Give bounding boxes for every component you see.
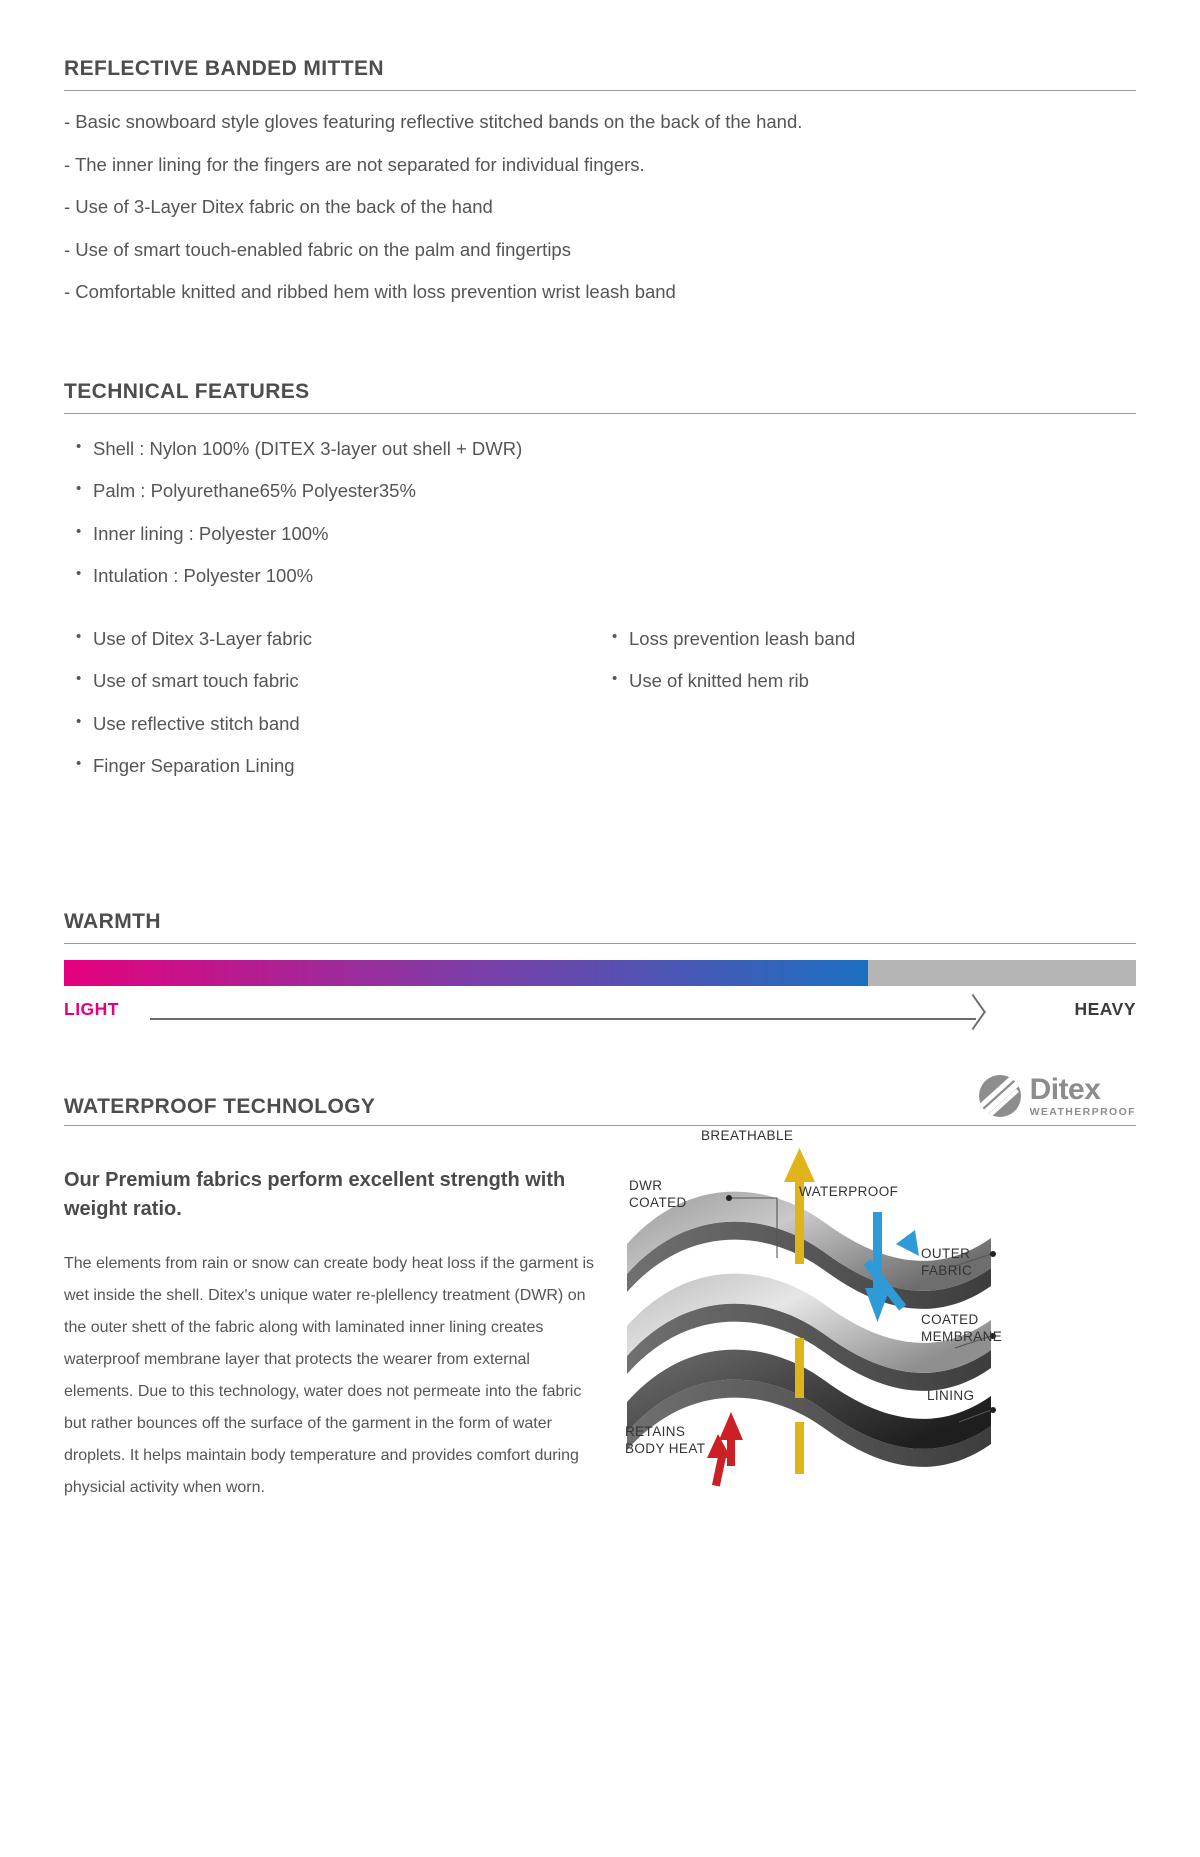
diagram-label-retains-body-heat: RETAINS BODY HEAT (625, 1424, 705, 1458)
list-item: - The inner lining for the fingers are n… (64, 156, 1136, 175)
diagram-label-breathable: BREATHABLE (701, 1128, 793, 1145)
list-item: - Basic snowboard style gloves featuring… (64, 113, 1136, 132)
warmth-light-label: LIGHT (64, 999, 119, 1020)
ditex-wordmark: Ditex WEATHERPROOF (1030, 1075, 1136, 1118)
list-item: Shell : Nylon 100% (DITEX 3-layer out sh… (76, 440, 1136, 459)
waterproof-heading-row: WATERPROOF TECHNOLOGY Ditex WEATHERPROOF (64, 1075, 1136, 1127)
features-columns: Use of Ditex 3-Layer fabric Use of smart… (64, 630, 1136, 800)
spec-sheet-page: REFLECTIVE BANDED MITTEN - Basic snowboa… (0, 57, 1200, 1857)
list-item: Inner lining : Polyester 100% (76, 525, 1136, 544)
warmth-heavy-label: HEAVY (1075, 999, 1137, 1020)
list-item: Palm : Polyurethane65% Polyester35% (76, 482, 1136, 501)
waterproof-body: Our Premium fabrics perform excellent st… (64, 1166, 1136, 1566)
diagram-label-waterproof: WATERPROOF (799, 1184, 898, 1201)
ditex-mark-icon (979, 1075, 1021, 1117)
list-item: Use of smart touch fabric (76, 672, 600, 691)
list-item: - Comfortable knitted and ribbed hem wit… (64, 283, 1136, 302)
waterproof-paragraph: The elements from rain or snow can creat… (64, 1248, 597, 1504)
ditex-tagline: WEATHERPROOF (1030, 1107, 1136, 1118)
waterproof-heading: WATERPROOF TECHNOLOGY (64, 1095, 375, 1119)
diagram-label-coated-membrane: COATED MEMBRANE (921, 1312, 1002, 1346)
warmth-scale-fill (64, 960, 868, 986)
warmth-heading: WARMTH (64, 910, 1136, 944)
list-item: Use reflective stitch band (76, 715, 600, 734)
warmth-scale-track (64, 960, 1136, 986)
product-description-list: - Basic snowboard style gloves featuring… (64, 113, 1136, 302)
diagram-label-dwr-coated: DWR COATED (629, 1178, 687, 1212)
list-item: - Use of smart touch-enabled fabric on t… (64, 241, 1136, 260)
ditex-logo: Ditex WEATHERPROOF (979, 1075, 1136, 1120)
waterproof-lead-text: Our Premium fabrics perform excellent st… (64, 1166, 597, 1224)
features-column-left: Use of Ditex 3-Layer fabric Use of smart… (64, 630, 600, 800)
list-item: Use of Ditex 3-Layer fabric (76, 630, 600, 649)
waterproof-text-column: Our Premium fabrics perform excellent st… (64, 1166, 619, 1566)
technical-features-heading: TECHNICAL FEATURES (64, 380, 1136, 414)
warmth-direction-arrow-icon (150, 1010, 986, 1024)
list-item: Intulation : Polyester 100% (76, 567, 1136, 586)
waterproof-diagram-column: BREATHABLE WATERPROOF DWR COATED OUTER F… (619, 1166, 1136, 1566)
features-list-left: Use of Ditex 3-Layer fabric Use of smart… (64, 630, 600, 776)
page-title: REFLECTIVE BANDED MITTEN (64, 57, 1136, 91)
list-item: Finger Separation Lining (76, 757, 600, 776)
list-item: Use of knitted hem rib (612, 672, 1136, 691)
ditex-name: Ditex (1030, 1075, 1136, 1105)
diagram-label-lining: LINING (927, 1388, 974, 1405)
features-column-right: Loss prevention leash band Use of knitte… (600, 630, 1136, 800)
list-item: - Use of 3-Layer Ditex fabric on the bac… (64, 198, 1136, 217)
warmth-scale-labels: LIGHT HEAVY (64, 997, 1136, 1023)
retains-heat-arrow-icon (707, 1412, 743, 1487)
features-list-right: Loss prevention leash band Use of knitte… (600, 630, 1136, 691)
materials-list: Shell : Nylon 100% (DITEX 3-layer out sh… (64, 440, 1136, 586)
diagram-label-outer-fabric: OUTER FABRIC (921, 1246, 972, 1280)
list-item: Loss prevention leash band (612, 630, 1136, 649)
